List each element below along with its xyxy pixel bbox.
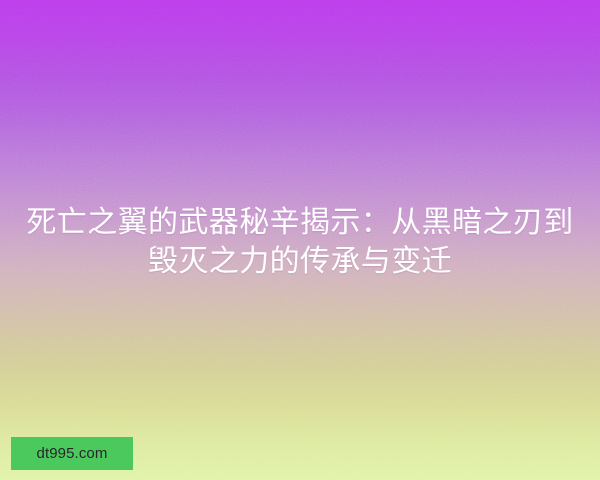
site-watermark-badge[interactable]: dt995.com: [11, 437, 133, 470]
site-watermark-label: dt995.com: [37, 446, 108, 461]
title-line-2: 毁灭之力的传承与变迁: [18, 242, 582, 281]
poster-title: 死亡之翼的武器秘辛揭示：从黑暗之刃到 毁灭之力的传承与变迁: [0, 203, 600, 281]
poster-canvas: 死亡之翼的武器秘辛揭示：从黑暗之刃到 毁灭之力的传承与变迁 dt995.com: [0, 0, 600, 480]
title-line-1: 死亡之翼的武器秘辛揭示：从黑暗之刃到: [18, 203, 582, 242]
